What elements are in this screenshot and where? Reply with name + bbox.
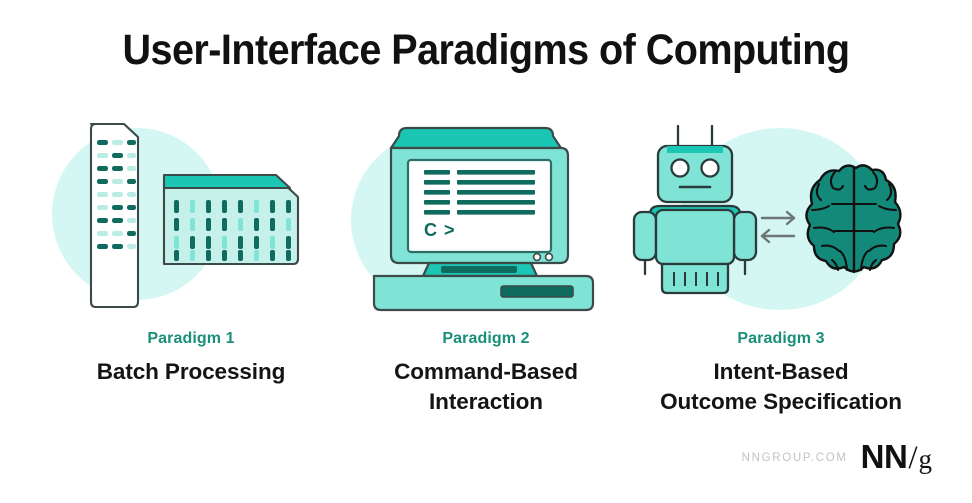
paradigm-kicker-3: Paradigm 3 (660, 330, 902, 349)
paradigm-title-2: Command-Based Interaction (394, 357, 578, 416)
brain-figure (806, 165, 900, 272)
monitor-led-1 (534, 254, 541, 261)
robot-eye-left (672, 160, 689, 177)
paradigm-caption-1: Paradigm 1 Batch Processing (97, 330, 285, 387)
paradigm-caption-2: Paradigm 2 Command-Based Interaction (394, 330, 578, 416)
paradigm-kicker-2: Paradigm 2 (394, 330, 578, 349)
floppy-drive-slot (501, 286, 573, 297)
paradigm-kicker-1: Paradigm 1 (97, 330, 285, 349)
logo-nn-text: NN (861, 438, 908, 476)
robot-arm-right (734, 212, 756, 260)
footer: NNGROUP.COM NN / g (742, 438, 932, 477)
paradigm-title-1: Batch Processing (97, 357, 285, 387)
robot-eye-right (702, 160, 719, 177)
paradigm-column-3: Paradigm 3 Intent-Based Outcome Specific… (636, 118, 926, 416)
arrow-right (762, 212, 794, 224)
paradigm-caption-3: Paradigm 3 Intent-Based Outcome Specific… (660, 330, 902, 416)
paradigm-title-3: Intent-Based Outcome Specification (660, 357, 902, 416)
arrow-left (762, 230, 794, 242)
paradigm-column-2: C > Paradigm 2 Command-Based Interaction (341, 118, 631, 416)
exchange-arrows (762, 212, 794, 242)
robot-brain-exchange-icon (636, 118, 926, 314)
punch-card-stack-icon (46, 118, 336, 314)
logo-g-text: g (919, 444, 933, 475)
footer-url: NNGROUP.COM (742, 452, 848, 464)
punch-card-deck (164, 175, 298, 264)
desktop-terminal-icon: C > (341, 118, 631, 314)
paradigm-column-1: Paradigm 1 Batch Processing (46, 118, 336, 416)
paradigm-columns: Paradigm 1 Batch Processing (0, 118, 972, 416)
robot-arm-left (634, 212, 656, 260)
robot-torso (656, 210, 734, 264)
logo-slash: / (908, 440, 917, 477)
nng-logo: NN / g (861, 438, 932, 477)
robot-figure (634, 126, 756, 293)
monitor-led-2 (546, 254, 553, 261)
terminal-prompt: C > (424, 220, 456, 240)
page-title: User-Interface Paradigms of Computing (39, 26, 933, 75)
punch-card-front (91, 124, 138, 307)
